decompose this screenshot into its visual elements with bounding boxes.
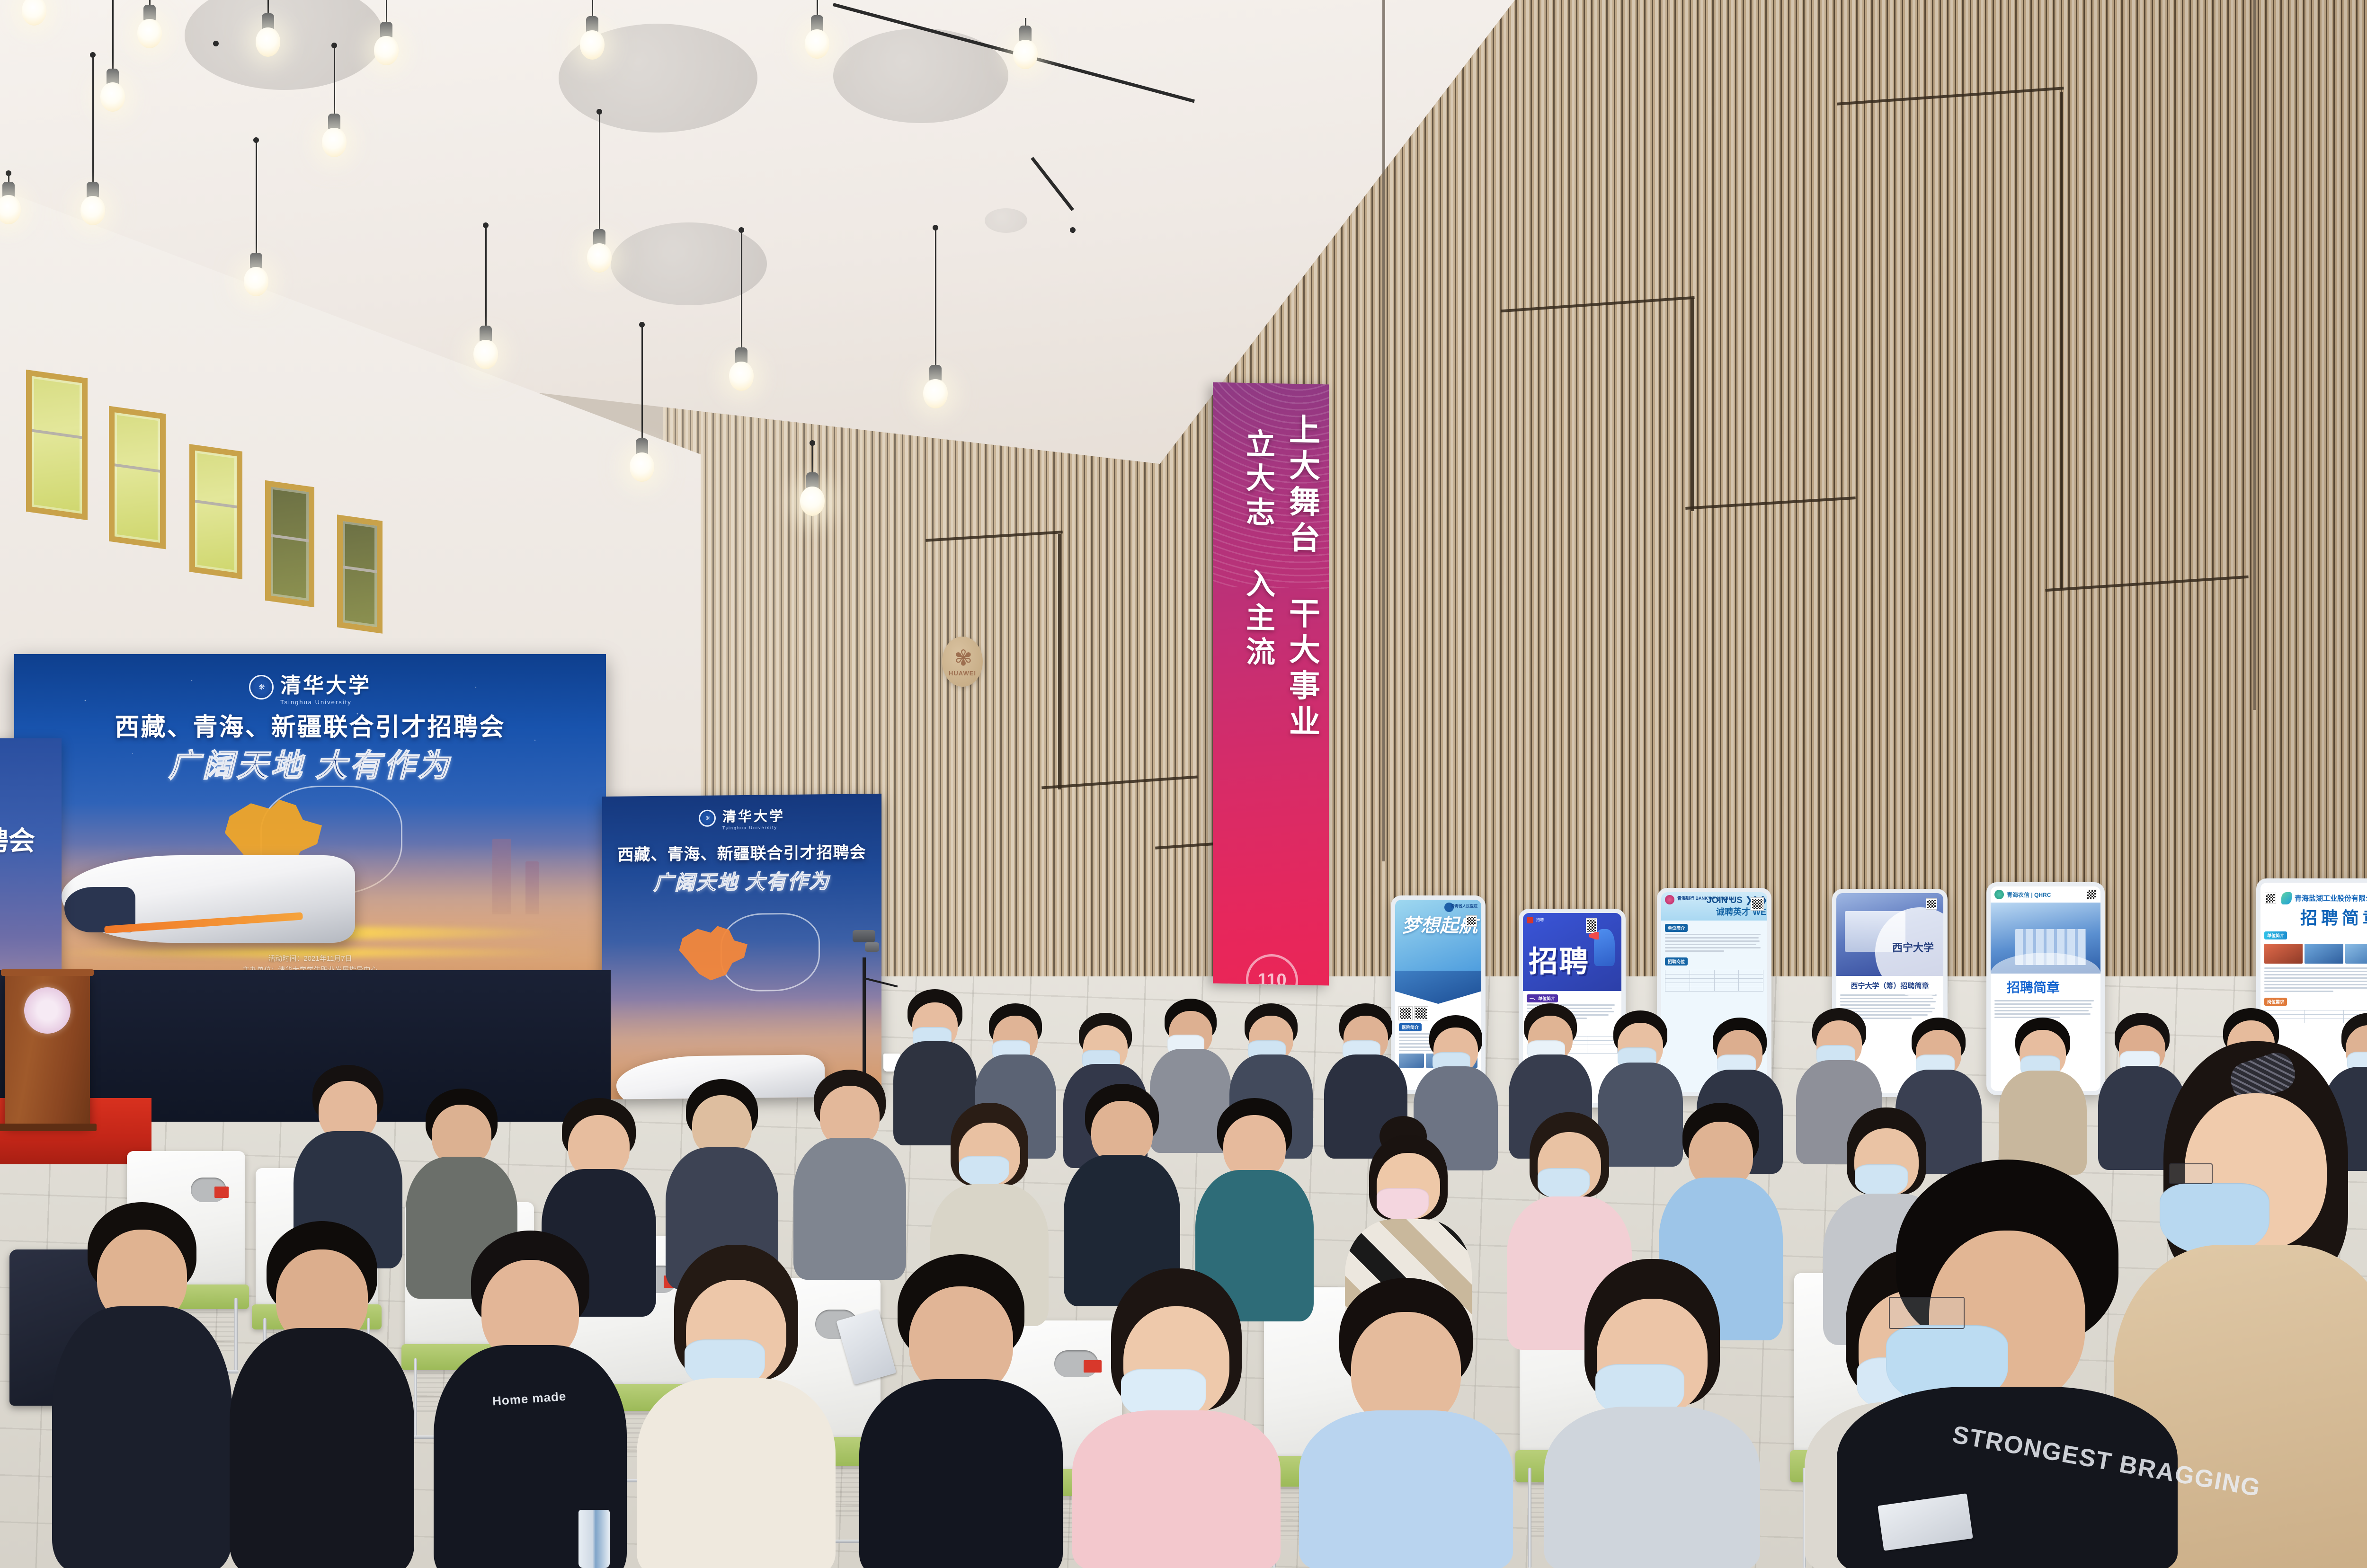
booth-headline: 招聘简章 (2300, 904, 2367, 928)
pendant-light (0, 180, 21, 275)
torso (859, 1379, 1063, 1568)
face-mask (959, 1156, 1009, 1186)
attendee (1094, 1268, 1259, 1568)
pendant-light (630, 322, 654, 478)
seal-glyph: ❋ (258, 682, 264, 692)
pendant-light (374, 0, 399, 85)
booth-body: 招聘简章 (1991, 974, 2100, 1023)
pendant-light (580, 0, 605, 80)
megaphone-icon (1589, 932, 1599, 939)
company-logo-icon (1665, 895, 1674, 904)
left-banner-text: 招聘会 (0, 820, 35, 858)
wall-panel-seam-vertical (1058, 534, 1061, 789)
chair-leg (234, 1298, 238, 1373)
qr-code[interactable] (2086, 889, 2097, 900)
pendant-light (256, 0, 280, 66)
booth-body-text (1994, 1000, 2097, 1018)
booth-positions-table (1665, 970, 1763, 992)
booth-header: 青海银行 BANK OF QINGHAI JOIN US ❯❯❯❯ 诚聘英才 W… (1661, 892, 1767, 921)
backdrop-university-name-en: Tsinghua University (280, 699, 371, 706)
qr-code[interactable] (1466, 916, 1477, 926)
booth-section-label-2: 岗位需求 (2264, 998, 2287, 1006)
backdrop-footer-line-1: 活动时间：2021年11月7日 (14, 953, 606, 965)
pendant-light (729, 227, 754, 388)
chair-leg (414, 1358, 417, 1439)
attendee (2007, 1018, 2078, 1169)
company-logo-icon (2281, 892, 2292, 904)
booth-headline: 西宁大学（筹）招聘简章 (1840, 981, 1940, 991)
motto-banner-anniversary-logo: 110 (1246, 954, 1298, 985)
secondary-event-banner: ❋ 清华大学 Tsinghua University 西藏、青海、新疆联合引才招… (602, 794, 881, 1099)
attendee (251, 1221, 393, 1568)
booth-headline: 招聘 (1529, 938, 1589, 980)
attendee (881, 1254, 1041, 1568)
pendant-light (800, 440, 825, 516)
motto-banner: 上大舞台 干大事业 立大志 入主流 110 (1213, 382, 1329, 986)
huawei-petals-icon: ✾ (954, 647, 971, 669)
attendee (71, 1202, 213, 1568)
banner2-university-lockup: ❋ 清华大学 Tsinghua University (602, 804, 881, 832)
pendant-light (587, 109, 612, 270)
window (26, 370, 88, 520)
huawei-brand-label: HUAWEI (949, 670, 976, 677)
seal-glyph: ❋ (705, 815, 709, 822)
booth-section-label: 一、单位简介 (1527, 994, 1558, 1002)
qr-code[interactable] (1586, 919, 1597, 933)
torso (1299, 1410, 1513, 1568)
pendant-light (1013, 18, 1038, 103)
backdrop-university-lockup: ❋ 清华大学 Tsinghua University (14, 668, 606, 706)
booth-section-label: 单位简介 (2264, 931, 2287, 939)
wall-panel-seam-vertical (2253, 0, 2256, 710)
podium-base (0, 1124, 97, 1131)
booth-body-text (2264, 967, 2367, 992)
booth-section-label-2: 招聘岗位 (1665, 957, 1688, 966)
tsinghua-seal-icon: ❋ (699, 810, 716, 827)
torso (1999, 1071, 2087, 1175)
tripod-pole (863, 957, 866, 1085)
window (109, 406, 166, 549)
banner2-university-name-cn: 清华大学 (722, 805, 785, 825)
qr-code[interactable] (1926, 899, 1937, 909)
tsinghua-seal-icon: ❋ (249, 675, 274, 700)
banner2-slogan: 广阔天地 大有作为 (602, 865, 881, 896)
booth-company-name: 青海省人民医院 (1451, 904, 1477, 909)
booth-company-name: 招聘 (1536, 917, 1544, 922)
booth-company-name: 青海农信 | QHRC (2007, 891, 2051, 899)
booth-section-label: 医院简介 (1399, 1023, 1422, 1031)
pendant-light (22, 0, 46, 38)
table-row (1665, 970, 1763, 974)
table-row (1665, 974, 1763, 979)
table-row (1665, 979, 1763, 983)
banner2-university-name-en: Tsinghua University (722, 825, 785, 830)
wall-panel-seam-vertical (2060, 92, 2063, 589)
torso (1544, 1407, 1760, 1568)
pendant-light (322, 43, 347, 185)
attendee (658, 1245, 814, 1568)
torso (637, 1378, 836, 1568)
qr-code[interactable] (1751, 898, 1763, 910)
booth-university-name: 西宁大学 (1892, 939, 1934, 955)
camera-body (853, 930, 875, 942)
camera-lens-icon (865, 942, 879, 952)
torso (52, 1306, 232, 1568)
attendee (1321, 1278, 1491, 1568)
table-row (1665, 983, 1763, 987)
ceiling-acoustic-disc (985, 208, 1027, 233)
wall-panel-seam-vertical (1691, 298, 1694, 511)
backdrop-university-name-cn: 清华大学 (280, 668, 371, 699)
attendee (805, 1070, 895, 1278)
pendant-light (137, 0, 162, 57)
photo-scene: ✾ HUAWEI ❋ 1911 — 2021 到祖国最需要的地方去 清 (0, 0, 2367, 1568)
water-tumbler (578, 1510, 610, 1568)
eyeglasses (2169, 1163, 2213, 1184)
booth-hero-image: 西宁大学 (1836, 893, 1943, 976)
podium-top (1, 969, 94, 976)
booth-headline: 招聘简章 (2007, 977, 2097, 996)
booth-body-text (1665, 934, 1763, 952)
main-stage-backdrop: ❋ 清华大学 Tsinghua University 西藏、青海、新疆联合引才招… (14, 654, 606, 985)
motto-banner-line-1: 上大舞台 干大事业 (1286, 413, 1318, 896)
window (189, 444, 242, 579)
qr-code[interactable] (2265, 893, 2276, 904)
booth-photo-strip (2264, 944, 2367, 964)
pendant-light (473, 222, 498, 374)
torso (230, 1328, 414, 1568)
chair-label (214, 1187, 229, 1198)
camera-tripod (847, 930, 881, 1086)
table-row (1665, 987, 1763, 992)
booth-header: 招聘 招聘 (1523, 913, 1621, 991)
booth-hero-image (1395, 971, 1481, 1004)
wall-panel-seam-vertical (1382, 0, 1385, 861)
backdrop-slogan: 广阔天地 大有作为 (14, 740, 606, 786)
speaker-podium[interactable] (5, 974, 90, 1125)
face-mask (1377, 1188, 1429, 1220)
attendee (1567, 1259, 1737, 1568)
tsinghua-podium-seal (24, 987, 71, 1034)
banner2-event-title: 西藏、青海、新疆联合引才招聘会 (602, 839, 881, 865)
backdrop-tower (492, 839, 511, 914)
pendant-light (1060, 227, 1085, 312)
pendant-light (923, 225, 948, 395)
pendant-light (805, 0, 829, 85)
eyeglasses (1889, 1297, 1965, 1329)
motto-banner-line-2: 立大志 入主流 (1242, 428, 1273, 845)
pendant-light (100, 0, 125, 123)
company-logo-icon (1527, 917, 1533, 923)
window (337, 514, 383, 633)
chair-leg (1528, 1468, 1531, 1568)
pendant-light (204, 41, 228, 135)
backdrop-tower (525, 861, 539, 914)
huawei-logo-plaque: ✾ HUAWEI (942, 637, 983, 687)
booth-header: 青海省人民医院 梦想起航 (1395, 900, 1481, 971)
booth-header: 青海农信 | QHRC (1991, 886, 2100, 903)
company-logo-icon (1994, 890, 2004, 899)
booth-company-name: 青海盐湖工业股份有限公司 (2295, 893, 2367, 903)
booth-header: 青海盐湖工业股份有限公司 招聘简章 (2260, 883, 2367, 928)
torso (1072, 1410, 1281, 1568)
booth-hero-image (1991, 903, 2100, 974)
pendant-light (244, 137, 268, 279)
backdrop-event-title: 西藏、青海、新疆联合引才招聘会 (14, 707, 606, 743)
pendant-light (80, 189, 105, 331)
window (265, 480, 314, 608)
booth-section-label: 单位简介 (1665, 924, 1688, 932)
face-mask (1538, 1168, 1590, 1199)
